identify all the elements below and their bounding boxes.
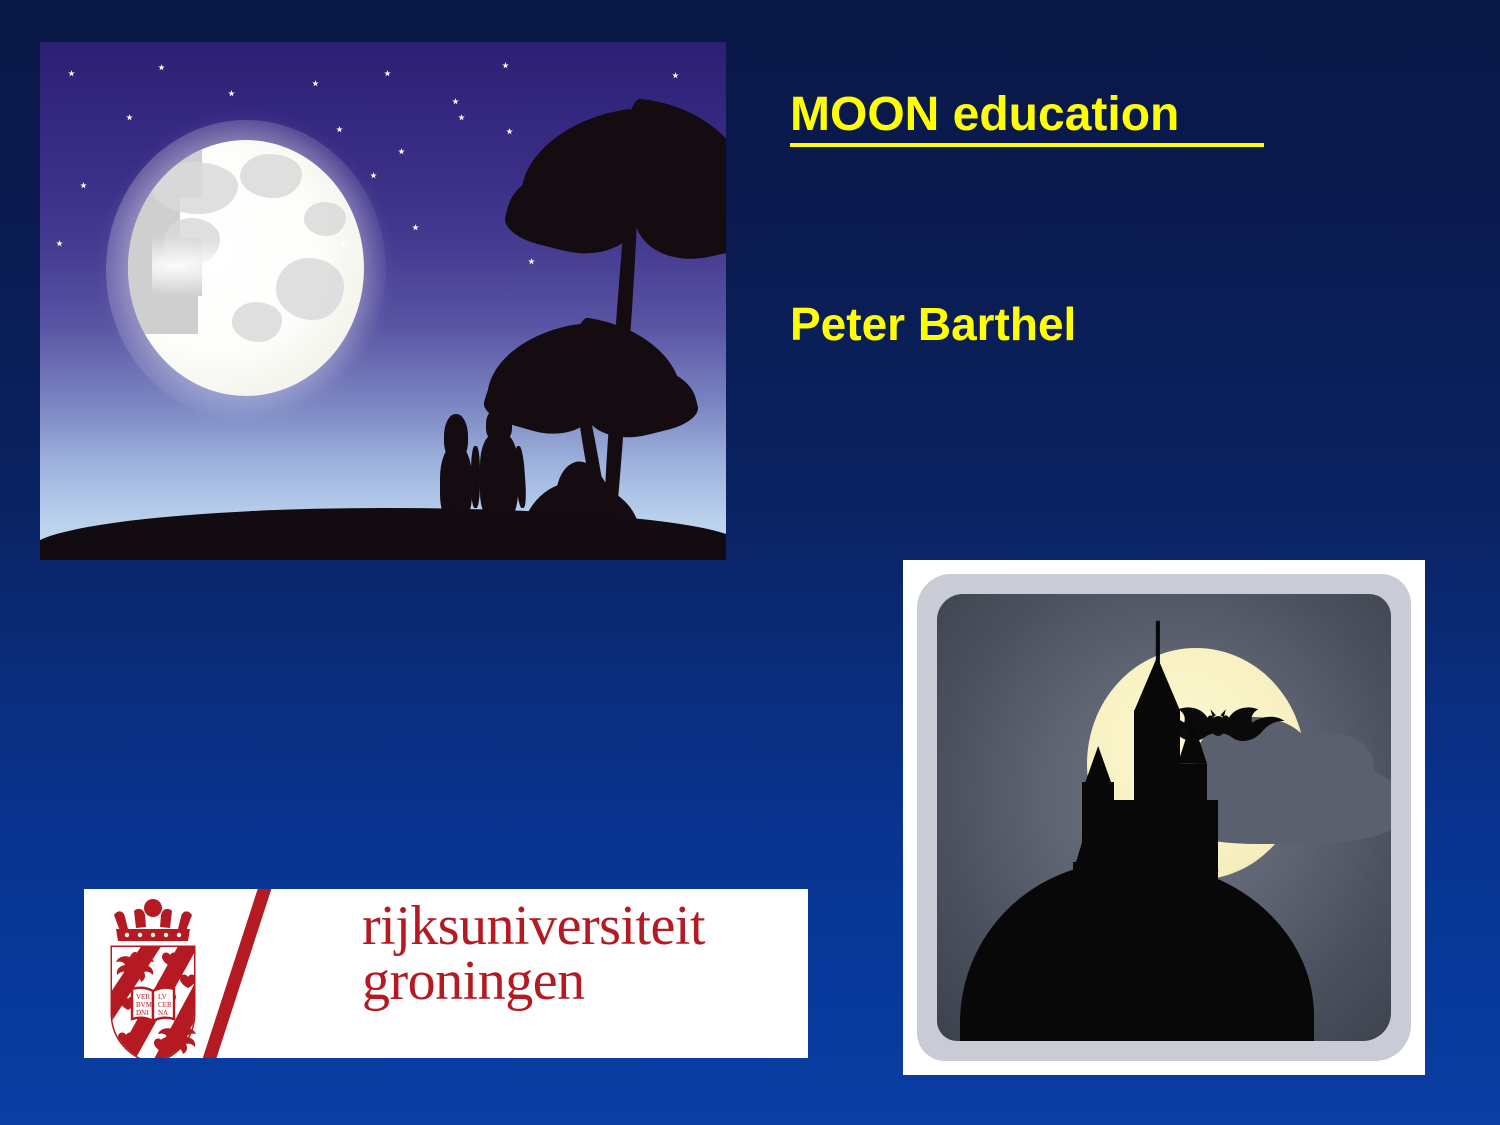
star [452, 98, 459, 105]
title-underline [790, 143, 1264, 147]
presentation-slide: MOON education Peter Barthel [0, 0, 1500, 1125]
star [502, 62, 509, 69]
moon-highlight [152, 236, 272, 296]
svg-text:BVM: BVM [136, 1001, 153, 1009]
silhouette-man-body [480, 434, 518, 520]
castle-night-sky [937, 594, 1391, 1041]
logo-slash [200, 889, 273, 1058]
logo-line-1: rijksuniversiteit [362, 899, 808, 954]
star [126, 114, 133, 121]
svg-text:LV: LV [158, 993, 167, 1001]
page-title: MOON education [790, 90, 1179, 140]
star [458, 114, 465, 121]
star [384, 70, 391, 77]
star [56, 240, 63, 247]
star [528, 258, 535, 265]
svg-text:CER: CER [158, 1001, 172, 1009]
castle-spires [937, 594, 1391, 1041]
author-name: Peter Barthel [790, 297, 1076, 351]
star [370, 172, 377, 179]
star [398, 148, 405, 155]
star [336, 126, 343, 133]
svg-text:VER: VER [136, 993, 150, 1001]
star [506, 128, 513, 135]
moonlit-beach-image [40, 42, 726, 560]
logo-line-2: groningen [362, 954, 808, 1009]
star [80, 182, 87, 189]
star [158, 64, 165, 71]
svg-text:NA: NA [158, 1009, 168, 1017]
halloween-castle-image [903, 560, 1425, 1075]
star [228, 90, 235, 97]
groningen-crest-icon: VER BVM DNI LV CER NA [100, 895, 206, 1058]
svg-text:DNI: DNI [136, 1009, 149, 1017]
full-moon [128, 140, 364, 396]
star [412, 224, 419, 231]
star [68, 70, 75, 77]
rijksuniversiteit-groningen-logo: VER BVM DNI LV CER NA rijksuniversiteit … [84, 889, 808, 1058]
logo-wordmark: rijksuniversiteit groningen [362, 899, 808, 1009]
open-book-icon: VER BVM DNI LV CER NA [132, 988, 174, 1021]
silhouette-arm [471, 446, 480, 508]
star [312, 80, 319, 87]
castle-image-frame [917, 574, 1411, 1061]
star [672, 72, 679, 79]
